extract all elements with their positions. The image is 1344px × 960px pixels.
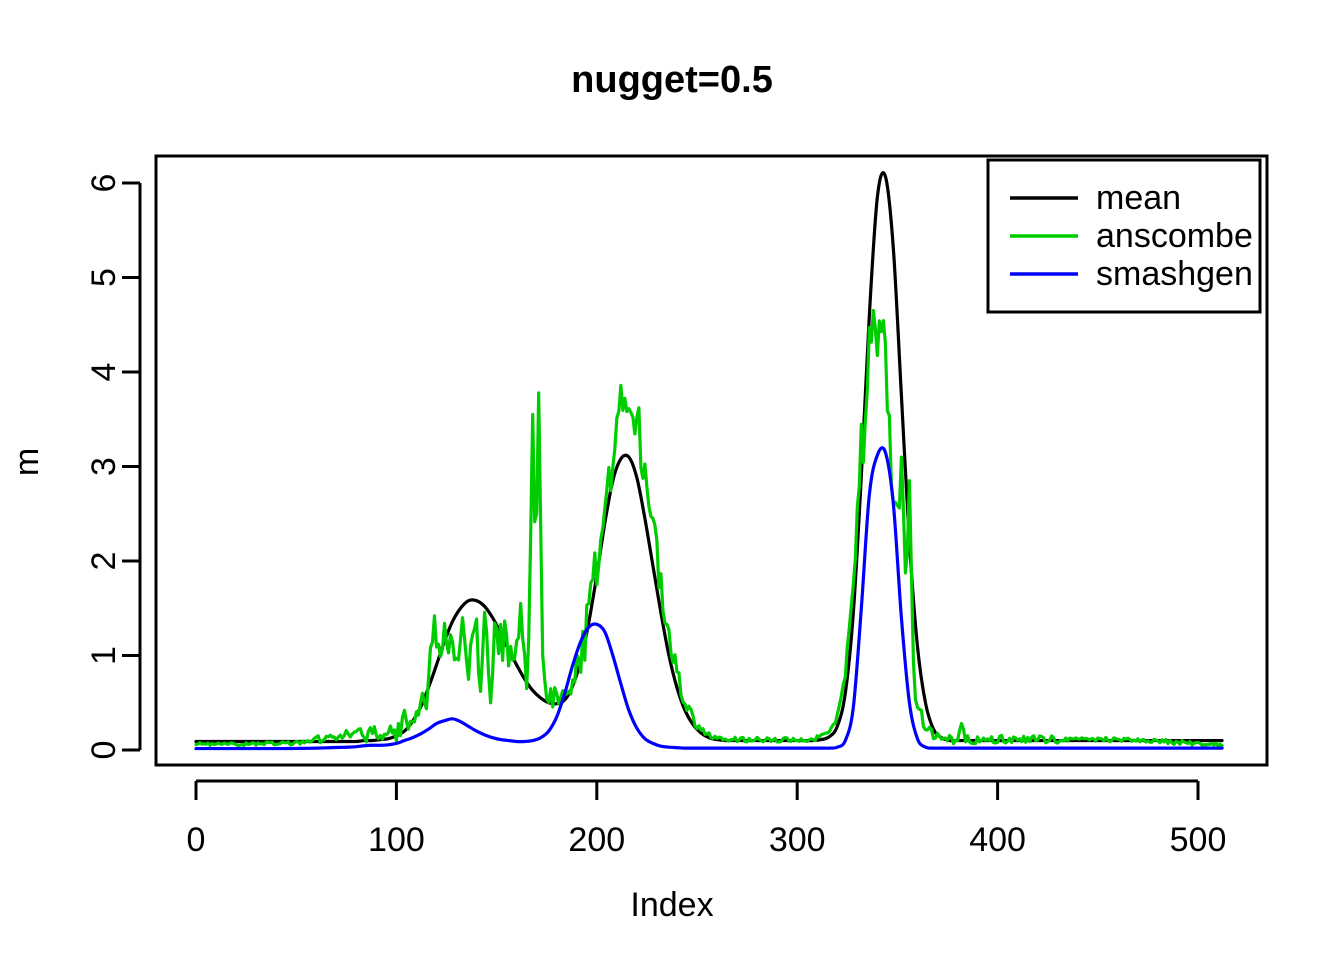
y-tick-label-6: 6 (85, 174, 123, 193)
y-tick-label-0: 0 (85, 741, 123, 760)
line-chart: nugget=0.5 0123456 0100200300400500 Inde… (0, 0, 1344, 960)
x-tick-label-200: 200 (568, 821, 625, 859)
y-tick-label-5: 5 (85, 268, 123, 287)
y-tick-label-1: 1 (85, 646, 123, 665)
chart-background (0, 0, 1344, 960)
legend-label-smashgen: smashgen (1096, 255, 1253, 293)
y-tick-label-2: 2 (85, 552, 123, 571)
y-tick-label-3: 3 (85, 457, 123, 476)
legend-label-mean: mean (1096, 179, 1181, 217)
x-tick-label-100: 100 (368, 821, 425, 859)
x-tick-label-500: 500 (1170, 821, 1227, 859)
x-tick-label-0: 0 (187, 821, 206, 859)
legend-label-anscombe: anscombe (1096, 217, 1253, 255)
x-tick-label-400: 400 (969, 821, 1026, 859)
y-tick-label-4: 4 (85, 363, 123, 382)
x-tick-label-300: 300 (769, 821, 826, 859)
y-axis-title: m (8, 448, 46, 476)
chart-container: nugget=0.5 0123456 0100200300400500 Inde… (0, 0, 1344, 960)
chart-title: nugget=0.5 (571, 59, 773, 101)
x-axis-title: Index (630, 886, 713, 924)
chart-legend[interactable]: meananscombesmashgen (988, 160, 1260, 312)
